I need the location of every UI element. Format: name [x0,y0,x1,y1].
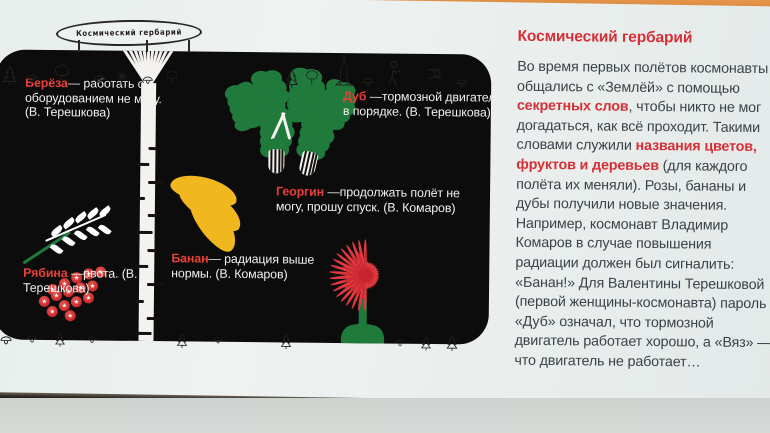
acorn-body [268,149,284,173]
rowan-leaflet [50,243,64,256]
article-run: Во время первых полётов космонавты общал… [517,59,768,97]
caption-dash: — [327,185,339,199]
tree-icon [167,71,177,84]
caption-dash: — [208,252,220,266]
article-title: Космический гербарий [517,27,770,49]
acorn-body [298,150,319,177]
tree-icon [55,65,68,82]
mushroom-icon [363,79,373,86]
caption-source: (В. Терешкова) [25,105,110,120]
caption-text: рвота. [83,266,118,280]
mushroom-icon [1,337,11,344]
mushroom-icon [214,337,222,343]
dahlia-bloom [325,235,406,316]
article-column: Космический гербарий Во время первых пол… [514,27,770,374]
caption-dash: — [71,266,83,280]
mushroom-icon [457,80,467,87]
sign-post [188,40,190,52]
sign-label: Космический гербарий [76,28,182,38]
rowan-leaflet [98,223,112,236]
caption-source: (В. Комаров) [215,266,287,281]
flower-icon [117,72,127,85]
caption-georgin: Георгин —продолжать полёт не могу, прошу… [276,184,476,215]
sign-post [146,40,148,52]
illustration-panel: Берёза— работать с оборудова­нием не мог… [0,49,492,344]
bottom-doodle-row [0,327,496,368]
caption-keyword: Банан [171,251,208,265]
panel-contents: Берёза— работать с оборудова­нием не мог… [0,49,492,344]
tree-icon [307,70,318,84]
caption-dub: Дуб —тормозной двигатель в порядке. (В. … [343,89,492,120]
birch-bark-mark [148,147,157,150]
mushroom-icon [396,340,404,346]
birch-bark-mark [148,214,161,217]
rowan-berry [71,296,82,307]
fir-tree-icon [447,336,457,351]
fir-tree-icon [177,334,186,348]
caption-keyword: Георгин [276,184,324,199]
article-body: Во время первых полётов космонавты общал… [514,58,770,374]
rowan-leaflet [74,229,88,242]
fir-tree-icon [56,333,65,347]
caption-source: (В. Терешкова) [405,104,490,119]
birch-bark-mark [148,181,165,184]
mushroom-icon [27,75,37,82]
sign-post [78,40,80,52]
fir-tree-icon [281,335,290,349]
caption-dash: — [370,89,382,103]
fir-tree-icon [422,337,431,351]
article-highlight: секретных слов [517,98,629,115]
satellite-icon [428,70,440,79]
article-run: (для каждого полёта их меняли). Розы, ба… [514,158,770,370]
mushroom-icon [143,77,152,83]
rocket-icon [336,55,352,85]
article-paragraph: Во время первых полётов космонавты общал… [514,58,770,374]
birch-bark-mark [147,249,156,252]
birch-bark-mark [147,317,160,320]
caption-source: (В. Комаров) [383,200,455,215]
mushroom-icon [95,76,105,83]
rowan-leaf-group [22,210,142,211]
table-surface [0,398,770,433]
fir-tree-icon [4,67,16,86]
photo-of-book-spread: Берёза— работать с оборудова­нием не мог… [0,0,770,433]
birch-bark-mark [136,197,145,200]
fir-tree-icon [286,70,297,88]
mushroom-icon [28,336,37,342]
birch-bark-mark [136,163,149,166]
caption-keyword: Дуб [343,89,366,103]
rowan-berry [47,306,58,317]
rowan-berry [39,296,50,307]
mushroom-icon [88,337,96,343]
caption-ryabina: Рябина —рвота. (В. Терешкова) [23,266,193,297]
rowan-leaflet [62,235,76,248]
caption-banan: Банан— радиация выше нормы. (В. Комаров) [171,251,336,282]
astronaut-icon [389,61,400,85]
dahlia-core [358,268,372,282]
rowan-berry-cluster [22,210,142,211]
rowan-berry [65,310,76,321]
caption-keyword: Рябина [23,266,68,280]
